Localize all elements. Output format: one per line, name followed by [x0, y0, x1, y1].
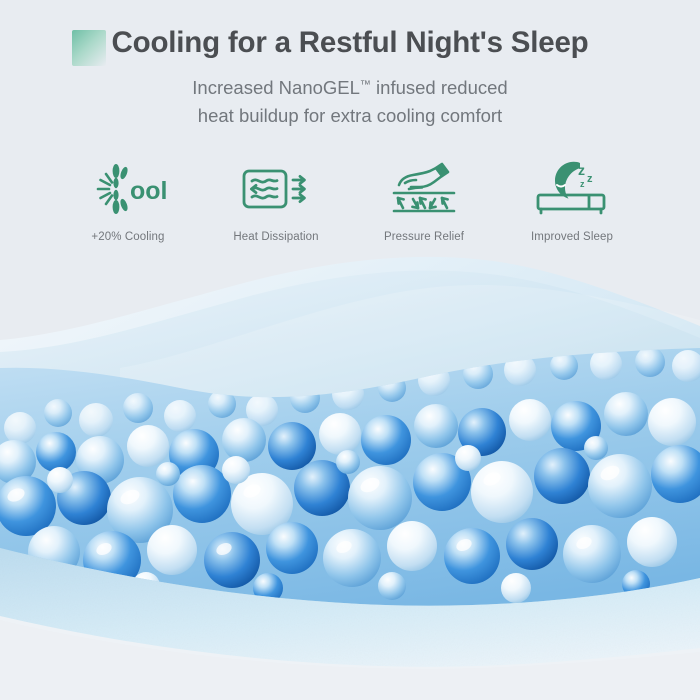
feature-item-cooling: ool +20% Cooling [54, 158, 202, 243]
feature-item-improved-sleep: z z z Improved Sleep [498, 158, 646, 243]
subtitle: Increased NanoGEL™ infused reduced heat … [0, 74, 700, 130]
cool-snowflake-icon: ool [54, 158, 202, 220]
svg-text:z: z [580, 179, 585, 189]
improved-sleep-moon-bed-icon: z z z [498, 158, 646, 220]
subtitle-line-2: heat buildup for extra cooling comfort [198, 105, 502, 126]
subtitle-line1-pre: Increased NanoGEL [192, 77, 360, 98]
feature-list: ool +20% Cooling [0, 158, 700, 243]
trademark-symbol: ™ [360, 79, 371, 91]
subtitle-line1-post: infused reduced [371, 77, 508, 98]
svg-text:z: z [587, 173, 593, 185]
feature-label-cooling: +20% Cooling [54, 231, 202, 243]
title-wrap: Cooling for a Restful Night's Sleep [0, 0, 700, 60]
feature-label-improved-sleep: Improved Sleep [498, 231, 646, 243]
page-title: Cooling for a Restful Night's Sleep [0, 26, 700, 60]
pressure-relief-hand-icon [350, 158, 498, 220]
feature-item-pressure-relief: Pressure Relief [350, 158, 498, 243]
cool-icon-text: ool [130, 177, 168, 205]
feature-label-heat-dissipation: Heat Dissipation [202, 231, 350, 243]
header-section: Cooling for a Restful Night's Sleep Incr… [0, 0, 700, 270]
svg-text:z: z [578, 162, 585, 178]
heat-dissipation-icon [202, 158, 350, 220]
product-feature-page: Cooling for a Restful Night's Sleep Incr… [0, 0, 700, 700]
subtitle-line-1: Increased NanoGEL™ infused reduced [192, 77, 507, 98]
gel-foam-cross-section-photo [0, 248, 700, 700]
feature-item-heat-dissipation: Heat Dissipation [202, 158, 350, 243]
feature-label-pressure-relief: Pressure Relief [350, 231, 498, 243]
